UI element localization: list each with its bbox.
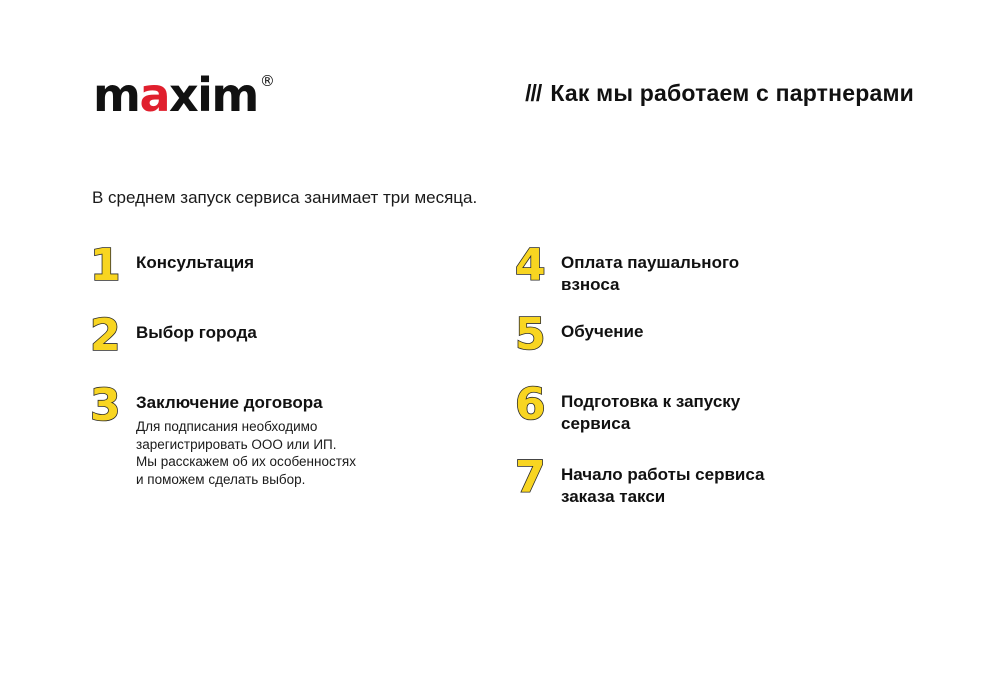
step-description-3: Для подписания необходимо зарегистрирова… — [136, 418, 356, 489]
step-item-7: 7 Начало работы сервиса заказа такси — [515, 460, 765, 508]
logo-text-xim: xim — [169, 72, 258, 118]
step-body-7: Начало работы сервиса заказа такси — [561, 460, 765, 508]
logo-wordmark: maxim — [93, 72, 258, 118]
step-number-3: 3 — [90, 388, 136, 424]
step-item-1: 1 Консультация — [90, 248, 254, 284]
logo-text-a-red: a — [139, 72, 169, 118]
step-body-6: Подготовка к запуску сервиса — [561, 387, 740, 435]
step-body-5: Обучение — [561, 317, 643, 343]
step-number-4: 4 — [515, 248, 561, 284]
registered-trademark-icon: ® — [260, 74, 275, 89]
step-item-6: 6 Подготовка к запуску сервиса — [515, 387, 740, 435]
step-item-5: 5 Обучение — [515, 317, 643, 353]
step-body-1: Консультация — [136, 248, 254, 274]
step-label-4: Оплата паушального взноса — [561, 252, 739, 296]
step-label-5: Обучение — [561, 321, 643, 343]
step-body-3: Заключение договора Для подписания необх… — [136, 388, 356, 489]
slide-canvas: maxim ® /// Как мы работаем с партнерами… — [0, 0, 1000, 700]
step-item-2: 2 Выбор города — [90, 318, 257, 354]
step-item-3: 3 Заключение договора Для подписания нео… — [90, 388, 356, 489]
page-title-text: Как мы работаем с партнерами — [550, 80, 914, 107]
maxim-logo: maxim ® — [93, 72, 275, 118]
step-number-1: 1 — [90, 248, 136, 284]
slashes-decoration-icon: /// — [525, 80, 541, 107]
step-number-5: 5 — [515, 317, 561, 353]
step-number-7: 7 — [515, 460, 561, 496]
step-body-4: Оплата паушального взноса — [561, 248, 739, 296]
step-number-2: 2 — [90, 318, 136, 354]
step-body-2: Выбор города — [136, 318, 257, 344]
lead-paragraph: В среднем запуск сервиса занимает три ме… — [92, 188, 477, 208]
step-label-2: Выбор города — [136, 322, 257, 344]
step-label-1: Консультация — [136, 252, 254, 274]
step-number-6: 6 — [515, 387, 561, 423]
step-label-3: Заключение договора — [136, 392, 356, 414]
step-label-6: Подготовка к запуску сервиса — [561, 391, 740, 435]
logo-text-m: m — [93, 72, 139, 118]
step-label-7: Начало работы сервиса заказа такси — [561, 464, 765, 508]
step-item-4: 4 Оплата паушального взноса — [515, 248, 739, 296]
page-title: /// Как мы работаем с партнерами — [525, 80, 914, 107]
